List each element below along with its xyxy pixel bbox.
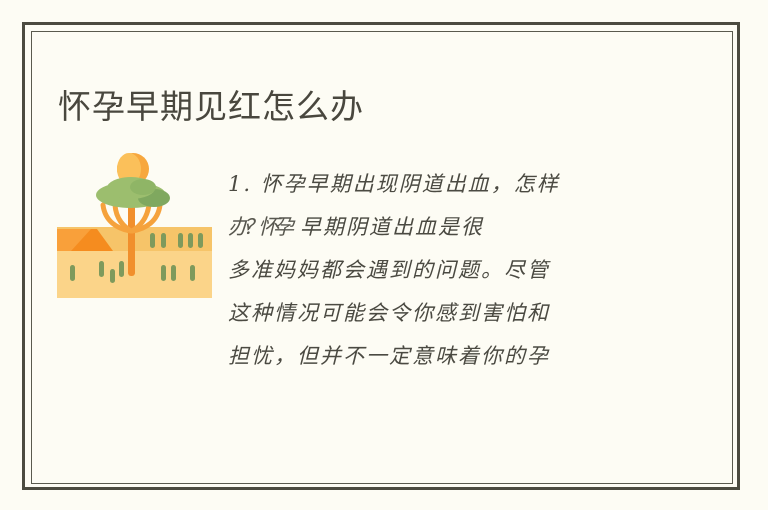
body-line-3: 多准妈妈都会遇到的问题。尽管 [228, 249, 674, 292]
body-line-4: 这种情况可能会令你感到害怕和 [228, 292, 674, 335]
body-line-1: 1. 怀孕早期出现阴道出血，怎样 [228, 163, 674, 206]
article-body: 1. 怀孕早期出现阴道出血，怎样 办？怀孕 早期阴道出血是很 多准妈妈都会遇到的… [228, 163, 674, 378]
savanna-scene-illustration [57, 143, 212, 298]
body-line-2-overlay: 办？怀孕 [228, 206, 288, 249]
body-line-2: 办？怀孕 早期阴道出血是很 [228, 206, 674, 249]
article-card-page: 怀孕早期见红怎么办 [0, 0, 768, 510]
body-line-5: 担忧，但并不一定意味着你的孕 [228, 335, 674, 378]
page-title: 怀孕早期见红怎么办 [58, 85, 364, 129]
